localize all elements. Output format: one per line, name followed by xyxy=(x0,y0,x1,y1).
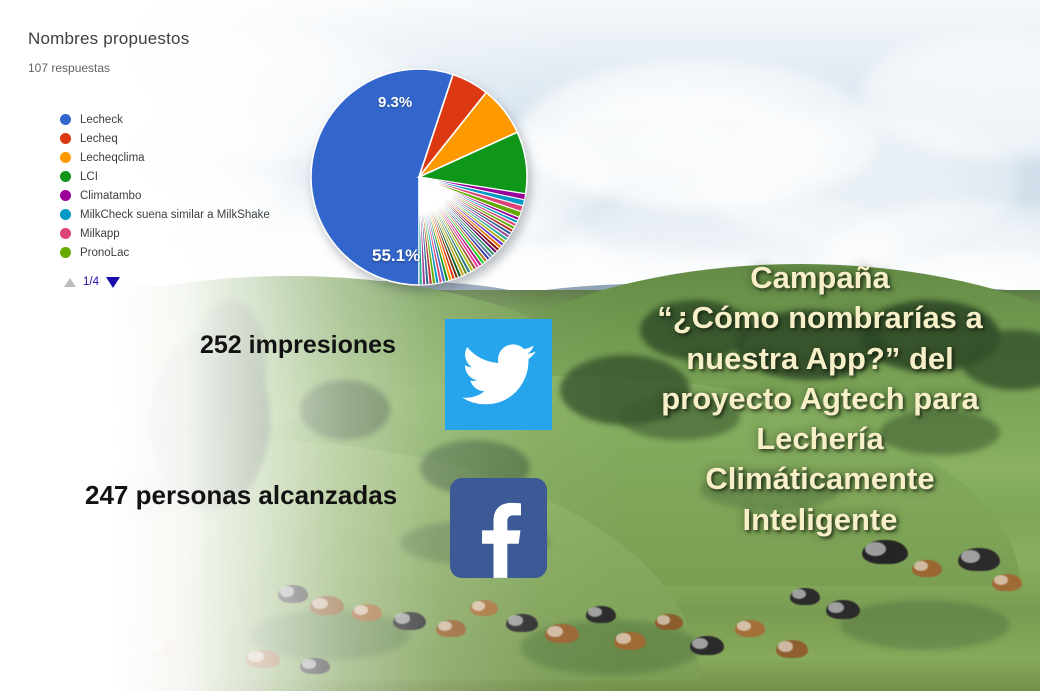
campaign-headline: Campaña“¿Cómo nombrarías anuestra App?” … xyxy=(610,258,1030,540)
chart-response-count: 107 respuestas xyxy=(28,61,110,75)
twitter-impressions-label: 252 impresiones xyxy=(200,331,396,360)
legend-swatch-icon xyxy=(60,209,71,220)
legend-swatch-icon xyxy=(60,114,71,125)
legend-swatch-icon xyxy=(60,190,71,201)
pager-label: 1/4 xyxy=(83,276,99,288)
legend-item-label: LCI xyxy=(80,171,98,183)
legend-swatch-icon xyxy=(60,171,71,182)
campaign-line: Climáticamente xyxy=(610,459,1030,499)
legend-item-label: Lecheq xyxy=(80,133,118,145)
legend-item[interactable]: Climatambo xyxy=(60,186,270,205)
legend-item-label: Milkapp xyxy=(80,228,120,240)
twitter-icon-tile[interactable] xyxy=(445,319,552,430)
legend-pager[interactable]: 1/4 xyxy=(64,276,120,288)
slide-canvas: Nombres propuestos 107 respuestas Lechec… xyxy=(0,0,1040,691)
facebook-reach-label: 247 personas alcanzadas xyxy=(85,480,397,511)
facebook-icon-tile[interactable] xyxy=(450,478,547,578)
legend-item-label: Lecheck xyxy=(80,114,123,126)
legend-swatch-icon xyxy=(60,228,71,239)
legend-item[interactable]: LCI xyxy=(60,167,270,186)
legend-item-label: PronoLac xyxy=(80,247,129,259)
legend-swatch-icon xyxy=(60,133,71,144)
pie-label-secondary: 9.3% xyxy=(378,94,412,111)
legend-item-label: Lecheqclima xyxy=(80,152,145,164)
legend-swatch-icon xyxy=(60,247,71,258)
legend-item[interactable]: PronoLac xyxy=(60,243,270,262)
legend-swatch-icon xyxy=(60,152,71,163)
legend-item[interactable]: Milkapp xyxy=(60,224,270,243)
chart-title: Nombres propuestos xyxy=(28,29,189,49)
campaign-line: Inteligente xyxy=(610,500,1030,540)
pie-label-primary: 55.1% xyxy=(372,246,420,266)
campaign-line: proyecto Agtech para xyxy=(610,379,1030,419)
chart-legend: LecheckLecheqLecheqclimaLCIClimatamboMil… xyxy=(60,110,270,262)
campaign-line: nuestra App?” del xyxy=(610,339,1030,379)
twitter-icon xyxy=(462,344,536,406)
pie-chart[interactable]: 55.1% 9.3% xyxy=(310,68,528,286)
campaign-line: “¿Cómo nombrarías a xyxy=(610,298,1030,338)
triangle-up-icon[interactable] xyxy=(64,278,76,287)
legend-item[interactable]: Lecheck xyxy=(60,110,270,129)
legend-item-label: Climatambo xyxy=(80,190,141,202)
facebook-icon xyxy=(474,500,524,578)
legend-item[interactable]: MilkCheck suena similar a MilkShake xyxy=(60,205,270,224)
campaign-line: Lechería xyxy=(610,419,1030,459)
legend-item[interactable]: Lecheqclima xyxy=(60,148,270,167)
legend-item[interactable]: Lecheq xyxy=(60,129,270,148)
triangle-down-icon[interactable] xyxy=(106,277,120,288)
campaign-line: Campaña xyxy=(610,258,1030,298)
legend-item-label: MilkCheck suena similar a MilkShake xyxy=(80,209,270,221)
